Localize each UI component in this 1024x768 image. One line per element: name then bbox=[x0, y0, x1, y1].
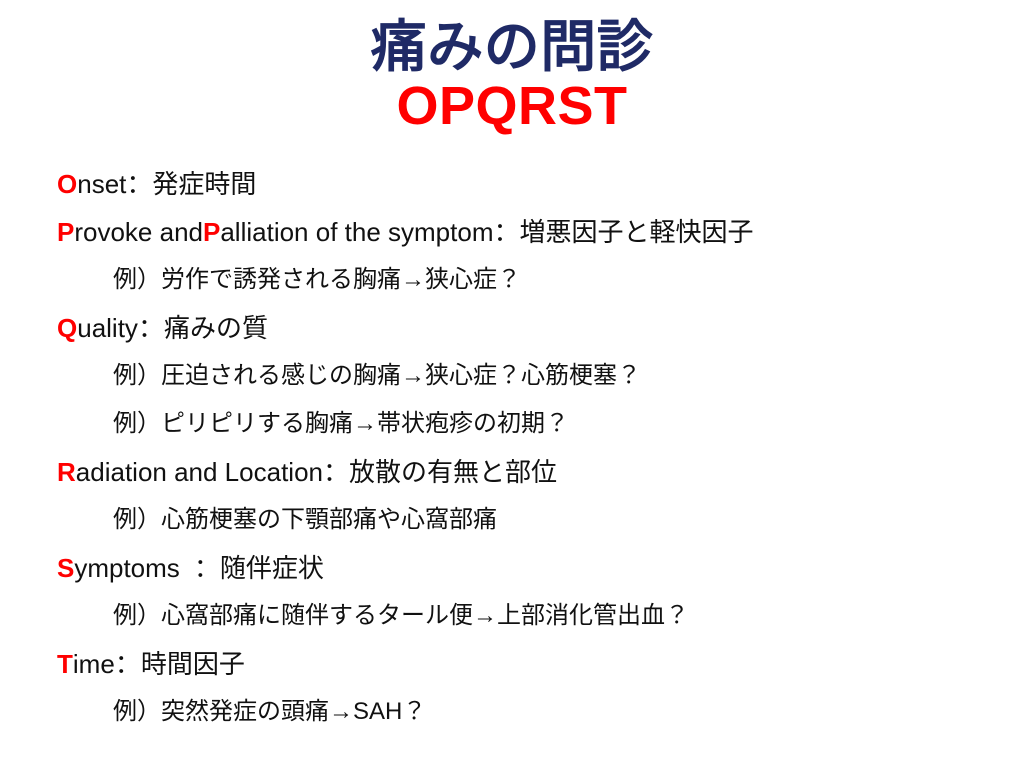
keyword-initial-2: P bbox=[203, 219, 220, 245]
example-text: 例）突然発症の頭痛→SAH？ bbox=[113, 700, 426, 724]
keyword-separator: ： bbox=[126, 171, 152, 197]
keyword-japanese-gloss: 痛みの質 bbox=[164, 315, 268, 341]
keyword-initial: P bbox=[57, 219, 74, 245]
body-line-example-quality-1: 例）圧迫される感じの胸痛→狭心症？心筋梗塞？ bbox=[0, 352, 1024, 400]
slide-body: Onset：発症時間Provoke and Palliation of the … bbox=[0, 160, 1024, 736]
slide-title-block: 痛みの問診 OPQRST bbox=[0, 16, 1024, 136]
keyword-japanese-gloss: 発症時間 bbox=[152, 171, 256, 197]
keyword-japanese-gloss: 時間因子 bbox=[141, 651, 245, 677]
keyword-separator: ： bbox=[138, 315, 164, 341]
body-line-example-provoke: 例）労作で誘発される胸痛→狭心症？ bbox=[0, 256, 1024, 304]
example-text: 例）労作で誘発される胸痛→狭心症？ bbox=[113, 268, 521, 292]
keyword-rest: ymptoms bbox=[74, 555, 179, 581]
keyword-initial: Q bbox=[57, 315, 77, 341]
keyword-initial: O bbox=[57, 171, 77, 197]
body-line-radiation-location: Radiation and Location：放散の有無と部位 bbox=[0, 448, 1024, 496]
example-text: 例）心筋梗塞の下顎部痛や心窩部痛 bbox=[113, 508, 497, 532]
body-line-symptoms: Symptoms：随伴症状 bbox=[0, 544, 1024, 592]
keyword-japanese-gloss: 放散の有無と部位 bbox=[349, 459, 557, 485]
keyword-separator: ： bbox=[323, 459, 349, 485]
page-title-japanese: 痛みの問診 bbox=[0, 16, 1024, 79]
keyword-separator: ： bbox=[115, 651, 141, 677]
body-line-example-quality-2: 例）ピリピリする胸痛→帯状疱疹の初期？ bbox=[0, 400, 1024, 448]
example-text: 例）心窩部痛に随伴するタール便→上部消化管出血？ bbox=[113, 604, 689, 628]
body-line-onset: Onset：発症時間 bbox=[0, 160, 1024, 208]
keyword-separator: ： bbox=[493, 219, 519, 245]
keyword-rest: uality bbox=[77, 315, 138, 341]
keyword-separator: ： bbox=[194, 555, 220, 581]
page-title-english: OPQRST bbox=[0, 77, 1024, 136]
keyword-rest: rovoke and bbox=[74, 219, 203, 245]
slide-root: 痛みの問診 OPQRST Onset：発症時間Provoke and Palli… bbox=[0, 0, 1024, 768]
keyword-japanese-gloss: 増悪因子と軽快因子 bbox=[520, 219, 754, 245]
example-text: 例）圧迫される感じの胸痛→狭心症？心筋梗塞？ bbox=[113, 364, 641, 388]
keyword-rest: nset bbox=[77, 171, 126, 197]
body-line-provoke-palliation: Provoke and Palliation of the symptom：増悪… bbox=[0, 208, 1024, 256]
keyword-initial: S bbox=[57, 555, 74, 581]
body-line-example-time: 例）突然発症の頭痛→SAH？ bbox=[0, 688, 1024, 736]
body-line-example-radiation: 例）心筋梗塞の下顎部痛や心窩部痛 bbox=[0, 496, 1024, 544]
keyword-initial: R bbox=[57, 459, 76, 485]
example-text: 例）ピリピリする胸痛→帯状疱疹の初期？ bbox=[113, 412, 569, 436]
keyword-initial: T bbox=[57, 651, 73, 677]
keyword-rest: adiation and Location bbox=[76, 459, 323, 485]
keyword-rest: ime bbox=[73, 651, 115, 677]
keyword-japanese-gloss: 随伴症状 bbox=[220, 555, 324, 581]
body-line-quality: Quality：痛みの質 bbox=[0, 304, 1024, 352]
body-line-example-symptoms: 例）心窩部痛に随伴するタール便→上部消化管出血？ bbox=[0, 592, 1024, 640]
keyword-rest-2: alliation of the symptom bbox=[220, 219, 493, 245]
body-line-time: Time：時間因子 bbox=[0, 640, 1024, 688]
